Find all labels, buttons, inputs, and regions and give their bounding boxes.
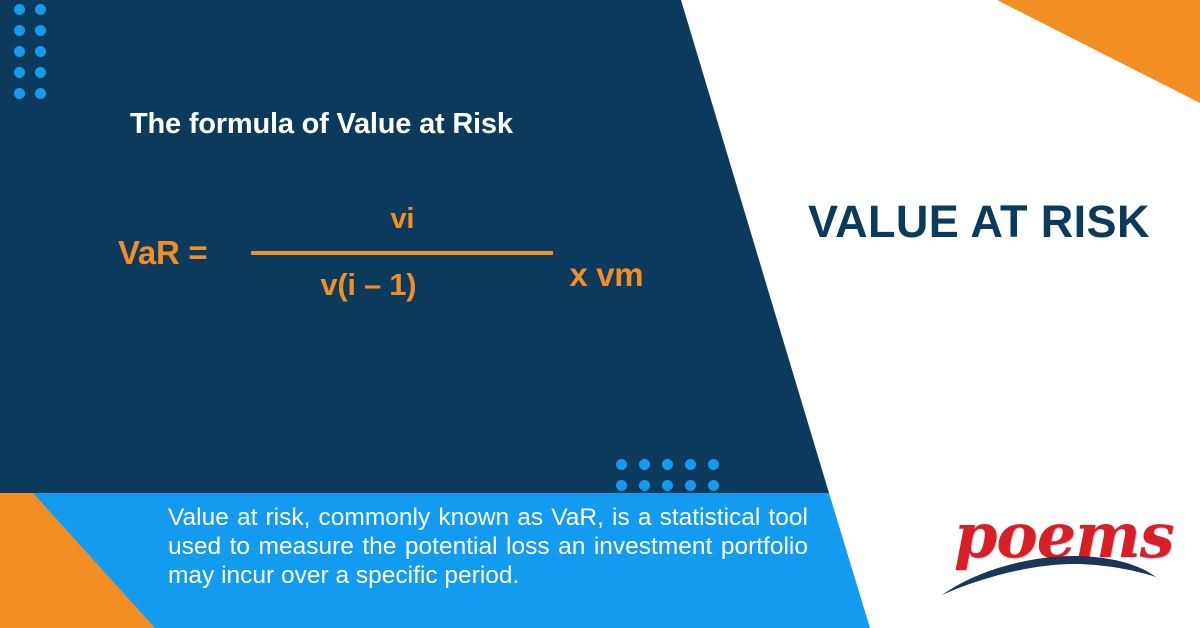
poems-logo: poems [938, 503, 1162, 603]
var-formula: VaR = vi v(i – 1) x vm [118, 205, 643, 300]
dot [14, 88, 25, 99]
formula-fraction: vi v(i – 1) [251, 205, 553, 300]
dot [685, 480, 696, 491]
dot [662, 459, 673, 470]
dot-grid-bottom-middle [616, 459, 731, 501]
dot [35, 25, 46, 36]
dot [14, 67, 25, 78]
dot-grid-top-left [14, 4, 56, 109]
dot [35, 88, 46, 99]
dot [708, 480, 719, 491]
infographic-canvas: The formula of Value at Risk VaR = vi v(… [0, 0, 1200, 628]
dot [616, 480, 627, 491]
fraction-denominator: v(i – 1) [320, 255, 416, 300]
formula-left-hand-side: VaR = [118, 234, 207, 272]
dot [14, 25, 25, 36]
dot [639, 480, 650, 491]
dot [35, 46, 46, 57]
dot [662, 480, 673, 491]
dot [639, 459, 650, 470]
formula-right-hand-side: x vm [569, 256, 643, 294]
swoosh-icon [938, 547, 1162, 599]
dot [14, 4, 25, 15]
dot [14, 46, 25, 57]
dot [616, 459, 627, 470]
fraction-numerator: vi [391, 205, 415, 251]
dot [35, 67, 46, 78]
dot [685, 459, 696, 470]
dot [708, 459, 719, 470]
description-text: Value at risk, commonly known as VaR, is… [168, 503, 808, 590]
page-title: VALUE AT RISK [808, 196, 1150, 248]
dot [35, 4, 46, 15]
formula-title: The formula of Value at Risk [130, 108, 513, 141]
